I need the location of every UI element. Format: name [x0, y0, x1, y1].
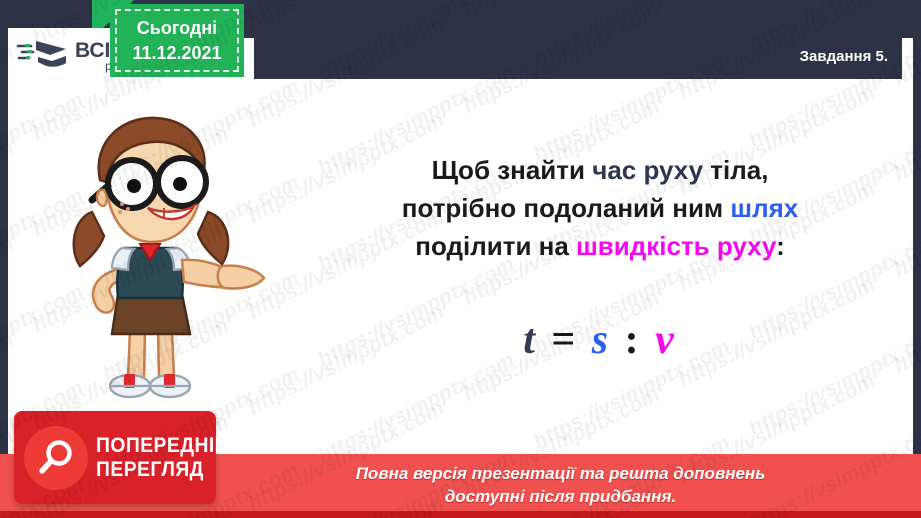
formula-expression: t = s : v [300, 316, 900, 364]
date-badge-label: Сьогодні [137, 16, 217, 40]
date-badge: Сьогодні 11.12.2021 [110, 4, 244, 77]
formula-variable-v: v [655, 317, 677, 363]
line2-highlight-distance: шлях [730, 193, 798, 223]
line1-part-a: Щоб знайти [432, 155, 593, 185]
left-rail [0, 38, 8, 518]
line3-part-c: : [776, 231, 785, 261]
date-badge-value: 11.12.2021 [132, 41, 221, 65]
line3-highlight-speed: швидкість руху [576, 231, 776, 261]
line1-highlight-time: час руху [592, 155, 703, 185]
presentation-slide: Завдання 5. В [0, 0, 921, 518]
banner-line-1: Повна версія презентації та решта доповн… [356, 463, 766, 486]
formula-colon-sign: : [625, 317, 642, 363]
lesson-text-line-3: поділити на швидкість руху: [300, 228, 900, 266]
line2-part-a: потрібно подоланий ним [402, 193, 731, 223]
formula-variable-s: s [592, 317, 611, 363]
header-strip: Завдання 5. [254, 33, 902, 79]
lesson-text-line-1: Щоб знайти час руху тіла, [300, 152, 900, 190]
graduation-cap-icon [16, 37, 70, 76]
magnifier-icon [24, 426, 88, 490]
formula-variable-t: t [523, 317, 538, 363]
line1-part-c: тіла, [703, 155, 768, 185]
pointing-schoolgirl-illustration [52, 108, 272, 410]
page-title: Завдання 5. [800, 48, 888, 65]
lesson-text-block: Щоб знайти час руху тіла, потрібно подол… [300, 152, 900, 266]
preview-button-line-1: ПОПЕРЕДНІЙ [96, 435, 229, 456]
lesson-text-line-2: потрібно подоланий ним шлях [300, 190, 900, 228]
banner-line-2: доступні після придбання. [445, 486, 676, 509]
line3-part-a: поділити на [415, 231, 576, 261]
preview-button[interactable]: ПОПЕРЕДНІЙ ПЕРЕГЛЯД [14, 411, 216, 504]
preview-button-line-2: ПЕРЕГЛЯД [96, 459, 229, 480]
preview-button-labels: ПОПЕРЕДНІЙ ПЕРЕГЛЯД [96, 435, 241, 480]
formula-equals-sign: = [551, 317, 578, 363]
